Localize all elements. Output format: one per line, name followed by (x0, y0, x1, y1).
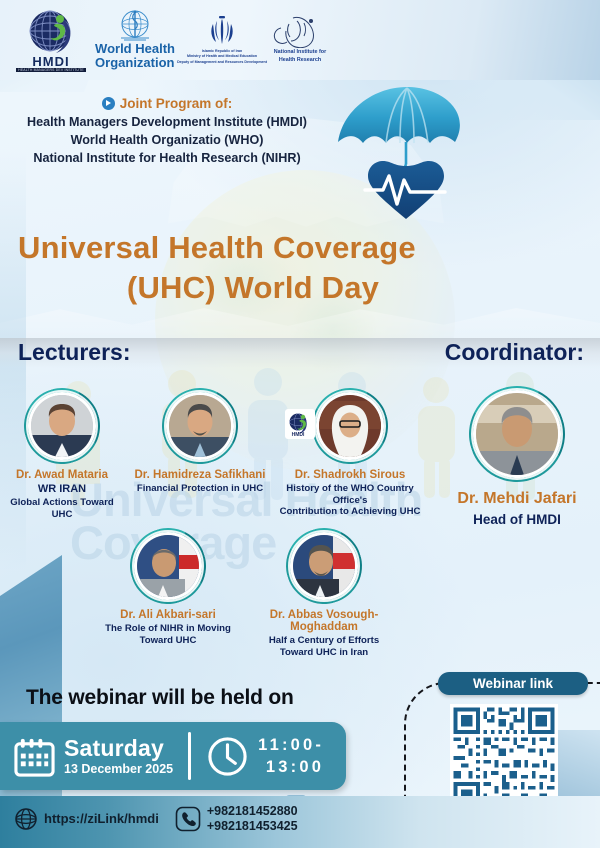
nihr-logo: National Institute for Health Research (252, 8, 348, 70)
clock-icon (206, 735, 249, 778)
date-day: Saturday (64, 737, 173, 760)
lecturer-name-4: Dr. Ali Akbari-sari (98, 609, 238, 621)
lecturer-card-4: Dr. Ali Akbari-sari The Role of NIHR in … (98, 528, 238, 646)
joint-program-line-3: National Institute for Health Research (… (8, 150, 326, 168)
lecturer-name-2: Dr. Hamidreza Safikhani (132, 469, 268, 481)
avatar (469, 386, 565, 482)
phone-text-block: +982181452880 +982181453425 (207, 804, 298, 835)
coordinator-card: Dr. Mehdi Jafari Head of HMDI (438, 386, 596, 527)
lecturer-name-1: Dr. Awad Mataria (4, 469, 120, 481)
joint-program-heading: Joint Program of: (8, 96, 326, 111)
hmdi-globe-icon (24, 9, 78, 55)
page-title: Universal Health Coverage (UHC) World Da… (18, 228, 488, 309)
nihr-line1: National Institute for (265, 49, 335, 56)
globe-icon (14, 807, 38, 831)
joint-program-line-1: Health Managers Development Institute (H… (8, 114, 326, 132)
date-full: 13 December 2025 (64, 763, 173, 776)
avatar (130, 528, 206, 604)
hmdi-small-globe-icon: HMDI (287, 411, 313, 437)
svg-text:HMDI: HMDI (292, 432, 305, 437)
lecturer-card-5: Dr. Abbas Vosough-Moghaddam Half a Centu… (236, 528, 412, 658)
lecturer-topic-2: Financial Protection in UHC (132, 483, 268, 495)
avatar-inner-ring (314, 390, 386, 462)
avatar-inner-ring (26, 390, 98, 462)
umbrella-heart-graphic (332, 84, 482, 224)
joint-program-line-2: World Health Organizatio (WHO) (8, 132, 326, 150)
avatar (312, 388, 388, 464)
page-title-line1: Universal Health Coverage (18, 228, 488, 268)
coordinator-role: Head of HMDI (438, 512, 596, 527)
calendar-icon (14, 736, 55, 777)
lecturer-card-1: Dr. Awad Mataria WR IRAN Global Actions … (4, 388, 120, 520)
coordinator-name: Dr. Mehdi Jafari (438, 490, 596, 508)
play-icon (102, 97, 115, 110)
website-contact[interactable]: https://ziLink/hmdi (14, 807, 159, 831)
phone-1: +982181452880 (207, 804, 298, 819)
joint-program-block: Joint Program of: Health Managers Develo… (8, 96, 326, 168)
lecturer-topic-3: History of the WHO Country Office's Cont… (274, 483, 426, 518)
who-emblem-icon (115, 9, 155, 42)
divider (188, 732, 191, 780)
avatar (24, 388, 100, 464)
phone-contact[interactable]: +982181452880 +982181453425 (175, 804, 298, 835)
contact-bar: https://ziLink/hmdi +982181452880 +98218… (0, 796, 600, 848)
nihr-emblem-icon (271, 14, 329, 48)
lecturers-heading: Lecturers: (18, 339, 130, 366)
coordinator-heading: Coordinator: (445, 339, 584, 366)
umbrella-icon (332, 84, 482, 224)
lecturer-role-1: WR IRAN (4, 483, 120, 495)
held-on-text: The webinar will be held on (26, 686, 294, 710)
lecturer-topic-5: Half a Century of Efforts Toward UHC in … (236, 635, 412, 658)
who-line2: Organization (95, 56, 175, 69)
hmdi-logo: HMDI HEALTH MANAGERS DEV INSTITUTE (14, 5, 88, 75)
time-text: 11:00- 13:00 (258, 734, 324, 779)
lecturer-topic-1: Global Actions Toward UHC (4, 497, 120, 520)
nihr-wordmark: National Institute for Health Research (265, 49, 335, 64)
logo-row: HMDI HEALTH MANAGERS DEV INSTITUTE Wor (0, 0, 600, 80)
contact-group: https://ziLink/hmdi +982181452880 +98218… (14, 804, 298, 835)
who-logo: World Health Organization (92, 8, 178, 70)
who-wordmark: World Health Organization (95, 42, 175, 69)
avatar-inner-ring (164, 390, 236, 462)
iran-emblem-icon (204, 15, 240, 49)
avatar-inner-ring (132, 530, 204, 602)
webinar-link-label[interactable]: Webinar link (438, 672, 588, 695)
poster-root: Universal Health Coverage HMDI HEALTH MA… (0, 0, 600, 848)
who-line1: World Health (95, 42, 175, 55)
page-title-line2: (UHC) World Day (18, 268, 488, 308)
joint-program-heading-text: Joint Program of: (120, 96, 233, 111)
hmdi-wordmark: HMDI (32, 55, 69, 68)
date-time-bar: Saturday 13 December 2025 11:00- 13:00 (0, 722, 346, 790)
date-text-block: Saturday 13 December 2025 (64, 737, 173, 776)
avatar-inner-ring (471, 388, 563, 480)
avatar-inner-ring (288, 530, 360, 602)
phone-icon (175, 806, 201, 832)
qr-center-logo: HMDI (285, 409, 315, 439)
lecturer-name-5: Dr. Abbas Vosough-Moghaddam (236, 609, 412, 633)
lecturer-topic-4: The Role of NIHR in Moving Toward UHC (98, 623, 238, 646)
avatar (286, 528, 362, 604)
hmdi-subtext: HEALTH MANAGERS DEV INSTITUTE (16, 68, 86, 72)
avatar (162, 388, 238, 464)
lecturer-card-2: Dr. Hamidreza Safikhani Financial Protec… (132, 388, 268, 495)
phone-2: +982181453425 (207, 819, 298, 834)
nihr-line2: Health Research (265, 57, 335, 64)
lecturer-card-3: Dr. Shadrokh Sirous History of the WHO C… (274, 388, 426, 518)
website-text: https://ziLink/hmdi (44, 812, 159, 827)
lecturer-name-3: Dr. Shadrokh Sirous (274, 469, 426, 481)
